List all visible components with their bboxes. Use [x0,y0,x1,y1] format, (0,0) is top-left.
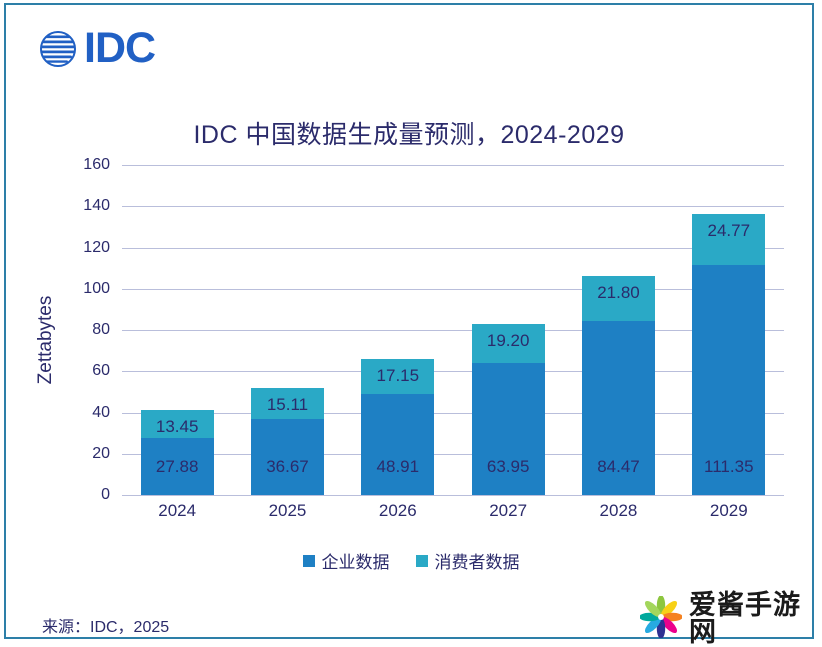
bar-value-label: 111.35 [692,457,765,477]
x-axis-ticks: 202420252026202720282029 [122,501,784,521]
site-watermark: 爱酱手游网 [640,592,822,646]
bar-value-label: 15.11 [251,395,324,415]
chart-plot: Zettabytes 160140120100806040200 13.4527… [6,165,816,555]
legend-swatch [416,555,428,567]
bar-segment-consumer[interactable]: 21.80 [582,276,655,321]
bar-segment-enterprise[interactable]: 111.35 [692,265,765,495]
y-axis-ticks: 160140120100806040200 [64,165,110,495]
y-axis-tick-label: 140 [64,197,110,215]
bar-segment-enterprise[interactable]: 63.95 [472,363,545,495]
bar-column[interactable]: 13.4527.88 [141,165,214,495]
x-axis-tick-label: 2026 [361,501,434,521]
watermark-label: 爱酱手游网 [689,592,822,646]
x-axis-tick-label: 2028 [582,501,655,521]
bar-value-label: 19.20 [472,331,545,351]
globe-icon [38,29,78,69]
y-axis-tick-label: 20 [64,445,110,463]
bar-value-label: 84.47 [582,457,655,477]
bar-segment-consumer[interactable]: 17.15 [361,359,434,394]
chart-card: IDC IDC 中国数据生成量预测，2024-2029 Zettabytes 1… [4,3,814,639]
bar-segment-enterprise[interactable]: 84.47 [582,321,655,495]
bar-value-label: 36.67 [251,457,324,477]
bar-segment-enterprise[interactable]: 27.88 [141,438,214,496]
legend-label: 消费者数据 [435,548,520,573]
x-axis-tick-label: 2025 [251,501,324,521]
bar-column[interactable]: 21.8084.47 [582,165,655,495]
bar-value-label: 21.80 [582,283,655,303]
x-axis-tick-label: 2029 [692,501,765,521]
idc-logo: IDC [38,27,155,70]
y-axis-tick-label: 80 [64,321,110,339]
source-note: 来源：IDC，2025 [42,613,169,637]
y-axis-tick-label: 60 [64,362,110,380]
bar-value-label: 24.77 [692,221,765,241]
gridline [122,495,784,496]
y-axis-title: Zettabytes [35,296,57,385]
legend-item[interactable]: 企业数据 [303,548,390,573]
bar-segment-enterprise[interactable]: 36.67 [251,419,324,495]
y-axis-tick-label: 40 [64,404,110,422]
legend-item[interactable]: 消费者数据 [416,548,520,573]
bar-segment-consumer[interactable]: 24.77 [692,214,765,265]
y-axis-tick-label: 0 [64,486,110,504]
legend-label: 企业数据 [322,548,390,573]
bar-segment-consumer[interactable]: 15.11 [251,388,324,419]
y-axis-tick-label: 100 [64,280,110,298]
bar-column[interactable]: 15.1136.67 [251,165,324,495]
bar-series-group: 13.4527.8815.1136.6717.1548.9119.2063.95… [122,165,784,495]
legend-swatch [303,555,315,567]
bar-value-label: 13.45 [141,417,214,437]
bar-column[interactable]: 24.77111.35 [692,165,765,495]
bar-value-label: 17.15 [361,366,434,386]
bar-value-label: 63.95 [472,457,545,477]
bar-column[interactable]: 17.1548.91 [361,165,434,495]
bar-segment-enterprise[interactable]: 48.91 [361,394,434,495]
bar-value-label: 27.88 [141,457,214,477]
y-axis-tick-label: 160 [64,156,110,174]
y-axis-tick-label: 120 [64,239,110,257]
chart-title: IDC 中国数据生成量预测，2024-2029 [6,115,812,151]
x-axis-tick-label: 2024 [141,501,214,521]
bar-segment-consumer[interactable]: 13.45 [141,410,214,438]
bar-segment-consumer[interactable]: 19.20 [472,324,545,364]
flower-pinwheel-icon [640,596,682,643]
bar-column[interactable]: 19.2063.95 [472,165,545,495]
bar-value-label: 48.91 [361,457,434,477]
logo-wordmark: IDC [84,27,155,70]
chart-legend: 企业数据消费者数据 [6,548,816,573]
plot-area: 13.4527.8815.1136.6717.1548.9119.2063.95… [122,165,784,495]
x-axis-tick-label: 2027 [472,501,545,521]
